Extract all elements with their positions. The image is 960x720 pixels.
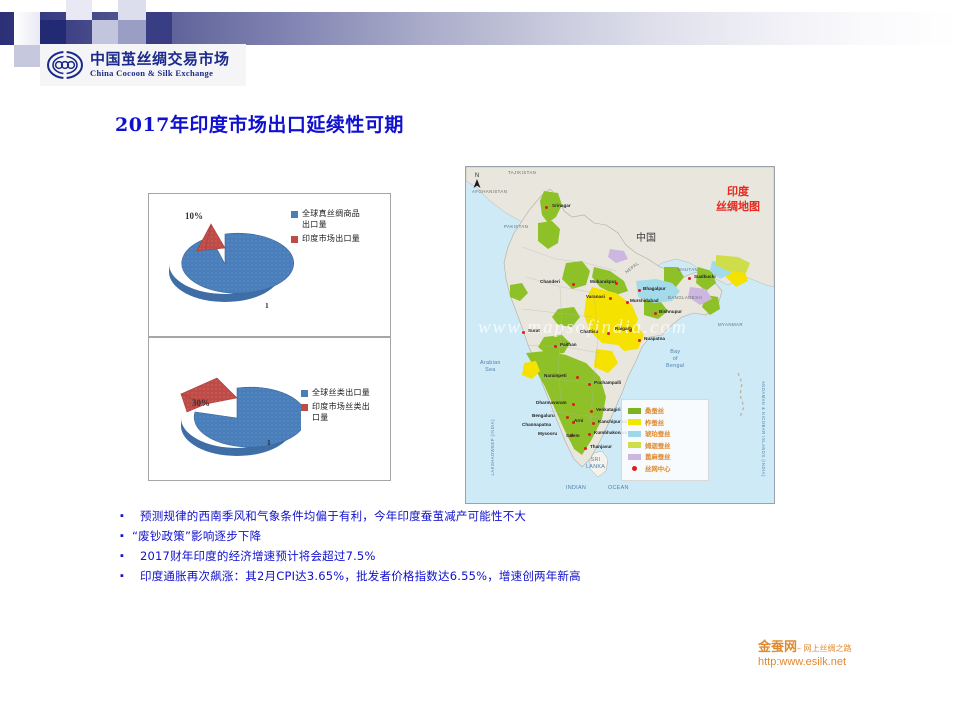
map-city-label: Bengaluru (532, 413, 555, 418)
map-city-label: Nuapatna (644, 336, 665, 341)
map-city-dot (522, 331, 525, 334)
map-city-label: Paithan (560, 342, 577, 347)
map-city-label: Narainpeti (544, 373, 566, 378)
map-city-label: Venkatagiri (596, 407, 621, 412)
map-city-dot (609, 297, 612, 300)
map-city-label: Salem (566, 433, 580, 438)
pie-chart-1-legend: 全球真丝绸商品出口量 印度市场出口量 (291, 209, 364, 247)
legend-swatch-red-icon (301, 404, 308, 411)
map-ocean-label: OCEAN (608, 485, 629, 492)
legend-item: 全球丝类出口量 (301, 388, 374, 399)
brand-name-en: China Cocoon & Silk Exchange (90, 69, 230, 78)
charts-panel: 10% 1 全球真丝绸商品出口量 印度市场出口量 (148, 193, 391, 481)
map-island-label: SRILANKA (586, 457, 605, 471)
map-country-label: PAKISTAN (504, 224, 528, 229)
footer-brand: 金蚕网– 网上丝绸之路 (758, 636, 948, 655)
map-city-dot (590, 410, 593, 413)
bullet-text: 印度通胀再次飙涨：其2月CPI达3.65%，批发者价格指数达6.55%，增速创两… (132, 568, 581, 585)
map-legend: 桑蚕丝 柞蚕丝 琥珀蚕丝 姆迦蚕丝 蓖麻蚕丝 丝网中心 (621, 399, 709, 481)
footer-branding: 金蚕网– 网上丝绸之路 http:www.esilk.net (758, 636, 948, 668)
map-city-label: Murshidabad (630, 298, 659, 303)
map-sea-label: BayofBengal (666, 349, 685, 370)
pie-chart-1-percent-label: 10% (185, 211, 203, 221)
cocoon-silk-exchange-logo-icon (46, 50, 84, 80)
bullet-text: 预测规律的西南季风和气象条件均偏于有利，今年印度蚕茧减产可能性不大 (132, 508, 526, 525)
map-country-label: MYANMAR (718, 322, 743, 327)
bullet-marker-icon: ▪ (118, 528, 126, 545)
map-city-label: Mubarakpur (590, 279, 616, 284)
map-lakshadweep-label: LAKSHADWEEP (INDIA) (490, 419, 495, 475)
header-decor-square (92, 20, 118, 44)
map-city-dot (638, 339, 641, 342)
map-title-line2: 丝绸地图 (716, 200, 760, 215)
legend-label: 印度市场丝类出口量 (312, 402, 374, 424)
map-city-dot (626, 301, 629, 304)
map-city-label: Bishnupur (659, 309, 682, 314)
map-city-label: Bhagalpur (643, 286, 666, 291)
map-city-dot (554, 345, 557, 348)
map-legend-swatch-amber-icon (628, 431, 641, 437)
map-city-dot (588, 433, 591, 436)
map-country-label: AFGHANISTAN (472, 189, 507, 194)
slide: 中国茧丝绸交易市场 China Cocoon & Silk Exchange 2… (0, 0, 960, 720)
map-city-label: Mysooru (538, 431, 557, 436)
legend-item: 全球真丝绸商品出口量 (291, 209, 364, 231)
map-legend-row: 丝网中心 (628, 464, 703, 473)
list-item: ▪ “废钞政策”影响逐步下降 (118, 528, 818, 545)
map-city-dot (566, 416, 569, 419)
pie-chart-2-percent-label: 30% (192, 398, 210, 408)
footer-brand-name: 金蚕网 (758, 640, 797, 655)
map-legend-row: 姆迦蚕丝 (628, 441, 703, 450)
map-city-label: Channapatna (522, 422, 551, 427)
map-title: 印度 丝绸地图 (716, 185, 760, 215)
header-decor-square (40, 20, 66, 44)
bullet-marker-icon: ▪ (118, 568, 126, 585)
map-city-label: Thanjavur (590, 444, 612, 449)
pie-chart-1-graphic (155, 208, 295, 328)
pie-chart-2-graphic (151, 360, 301, 480)
footer-url[interactable]: http:www.esilk.net (758, 656, 948, 668)
map-country-label: BANGLADESH (668, 295, 702, 300)
bullet-text: “废钞政策”影响逐步下降 (132, 528, 261, 545)
pie-chart-2-slice-label: 1 (267, 438, 271, 447)
map-legend-label: 琥珀蚕丝 (645, 429, 671, 438)
brand-logo: 中国茧丝绸交易市场 China Cocoon & Silk Exchange (40, 44, 246, 86)
bullet-marker-icon: ▪ (118, 508, 126, 525)
map-city-dot (588, 383, 591, 386)
map-city-label: Pochampalli (594, 380, 621, 385)
map-city-dot (592, 422, 595, 425)
map-city-dot (584, 447, 587, 450)
map-city-dot (572, 283, 575, 286)
footer-tagline: – 网上丝绸之路 (797, 644, 852, 653)
map-city-label: Arni (574, 418, 583, 423)
map-city-label: Srinagar (552, 203, 571, 208)
map-sea-label: ArabianSea (480, 360, 501, 374)
map-country-label: BHUTAN (678, 267, 698, 272)
legend-label: 全球真丝绸商品出口量 (302, 209, 364, 231)
map-city-label: Chattisa (580, 329, 598, 334)
bullet-text: 2017财年印度的经济增速预计将会超过7.5% (132, 548, 376, 565)
map-legend-label: 柞蚕丝 (645, 418, 664, 427)
map-city-dot (688, 277, 691, 280)
map-legend-row: 蓖麻蚕丝 (628, 452, 703, 461)
map-legend-row: 琥珀蚕丝 (628, 429, 703, 438)
map-city-label: Surat (528, 328, 540, 333)
header-decor-square (118, 0, 146, 20)
map-legend-label: 丝网中心 (645, 464, 671, 473)
map-legend-label: 桑蚕丝 (645, 406, 664, 415)
legend-label: 印度市场出口量 (302, 234, 360, 245)
map-legend-row: 桑蚕丝 (628, 406, 703, 415)
map-city-dot (572, 403, 575, 406)
brand-name-cn: 中国茧丝绸交易市场 (90, 52, 230, 68)
legend-item: 印度市场丝类出口量 (301, 402, 374, 424)
pie-chart-raw-silk: 30% 1 全球丝类出口量 印度市场丝类出口量 (148, 337, 391, 481)
india-silk-map: 印度 丝绸地图 中国 N www.mapsofindia.com TAJIKIS… (465, 166, 775, 504)
pie-chart-1-slice-label: 1 (265, 301, 269, 310)
bullet-list: ▪ 预测规律的西南季风和气象条件均偏于有利，今年印度蚕茧减产可能性不大 ▪ “废… (118, 508, 818, 588)
list-item: ▪ 2017财年印度的经济增速预计将会超过7.5% (118, 548, 818, 565)
header-decor-square (118, 20, 146, 44)
map-city-dot (576, 376, 579, 379)
header-decor-square (14, 45, 40, 67)
map-city-label: Sualkuchi (694, 274, 716, 279)
map-legend-swatch-mulberry-icon (628, 408, 641, 414)
map-city-label: Chanderi (540, 279, 560, 284)
header-decor-square (146, 12, 172, 44)
map-city-label: Varanasi (586, 294, 605, 299)
map-legend-swatch-eri-icon (628, 454, 641, 460)
map-legend-silk-center-dot-icon (632, 466, 637, 471)
map-city-dot (638, 289, 641, 292)
map-city-dot (654, 312, 657, 315)
map-legend-label: 姆迦蚕丝 (645, 441, 671, 450)
map-andaman-label: ANDAMAN & NICOBAR ISLANDS (INDIA) (761, 381, 766, 477)
map-city-dot (545, 206, 548, 209)
map-legend-swatch-muga-icon (628, 442, 641, 448)
pie-chart-silk-goods: 10% 1 全球真丝绸商品出口量 印度市场出口量 (148, 193, 391, 337)
legend-item: 印度市场出口量 (291, 234, 364, 245)
brand-logo-text: 中国茧丝绸交易市场 China Cocoon & Silk Exchange (90, 52, 230, 78)
map-legend-swatch-tasar-icon (628, 419, 641, 425)
legend-label: 全球丝类出口量 (312, 388, 370, 399)
legend-swatch-blue-icon (301, 390, 308, 397)
map-title-line1: 印度 (716, 185, 760, 200)
map-ocean-label: INDIAN (566, 485, 586, 492)
map-country-label: TAJIKISTAN (508, 170, 536, 175)
map-legend-label: 蓖麻蚕丝 (645, 452, 671, 461)
legend-swatch-blue-icon (291, 211, 298, 218)
map-label-china: 中国 (636, 229, 656, 244)
map-city-label: Raigarh (615, 326, 632, 331)
header-decor-square (66, 0, 92, 20)
compass-north-icon: N (473, 173, 481, 190)
bullet-marker-icon: ▪ (118, 548, 126, 565)
page-title: 2017年印度市场出口延续性可期 (115, 110, 404, 137)
header-decor-square (14, 12, 40, 45)
map-legend-row: 柞蚕丝 (628, 418, 703, 427)
pie-chart-2-legend: 全球丝类出口量 印度市场丝类出口量 (301, 388, 374, 426)
list-item: ▪ 预测规律的西南季风和气象条件均偏于有利，今年印度蚕茧减产可能性不大 (118, 508, 818, 525)
legend-swatch-red-icon (291, 236, 298, 243)
list-item: ▪ 印度通胀再次飙涨：其2月CPI达3.65%，批发者价格指数达6.55%，增速… (118, 568, 818, 585)
map-city-label: Dharmavaram (536, 400, 567, 405)
map-city-dot (607, 332, 610, 335)
